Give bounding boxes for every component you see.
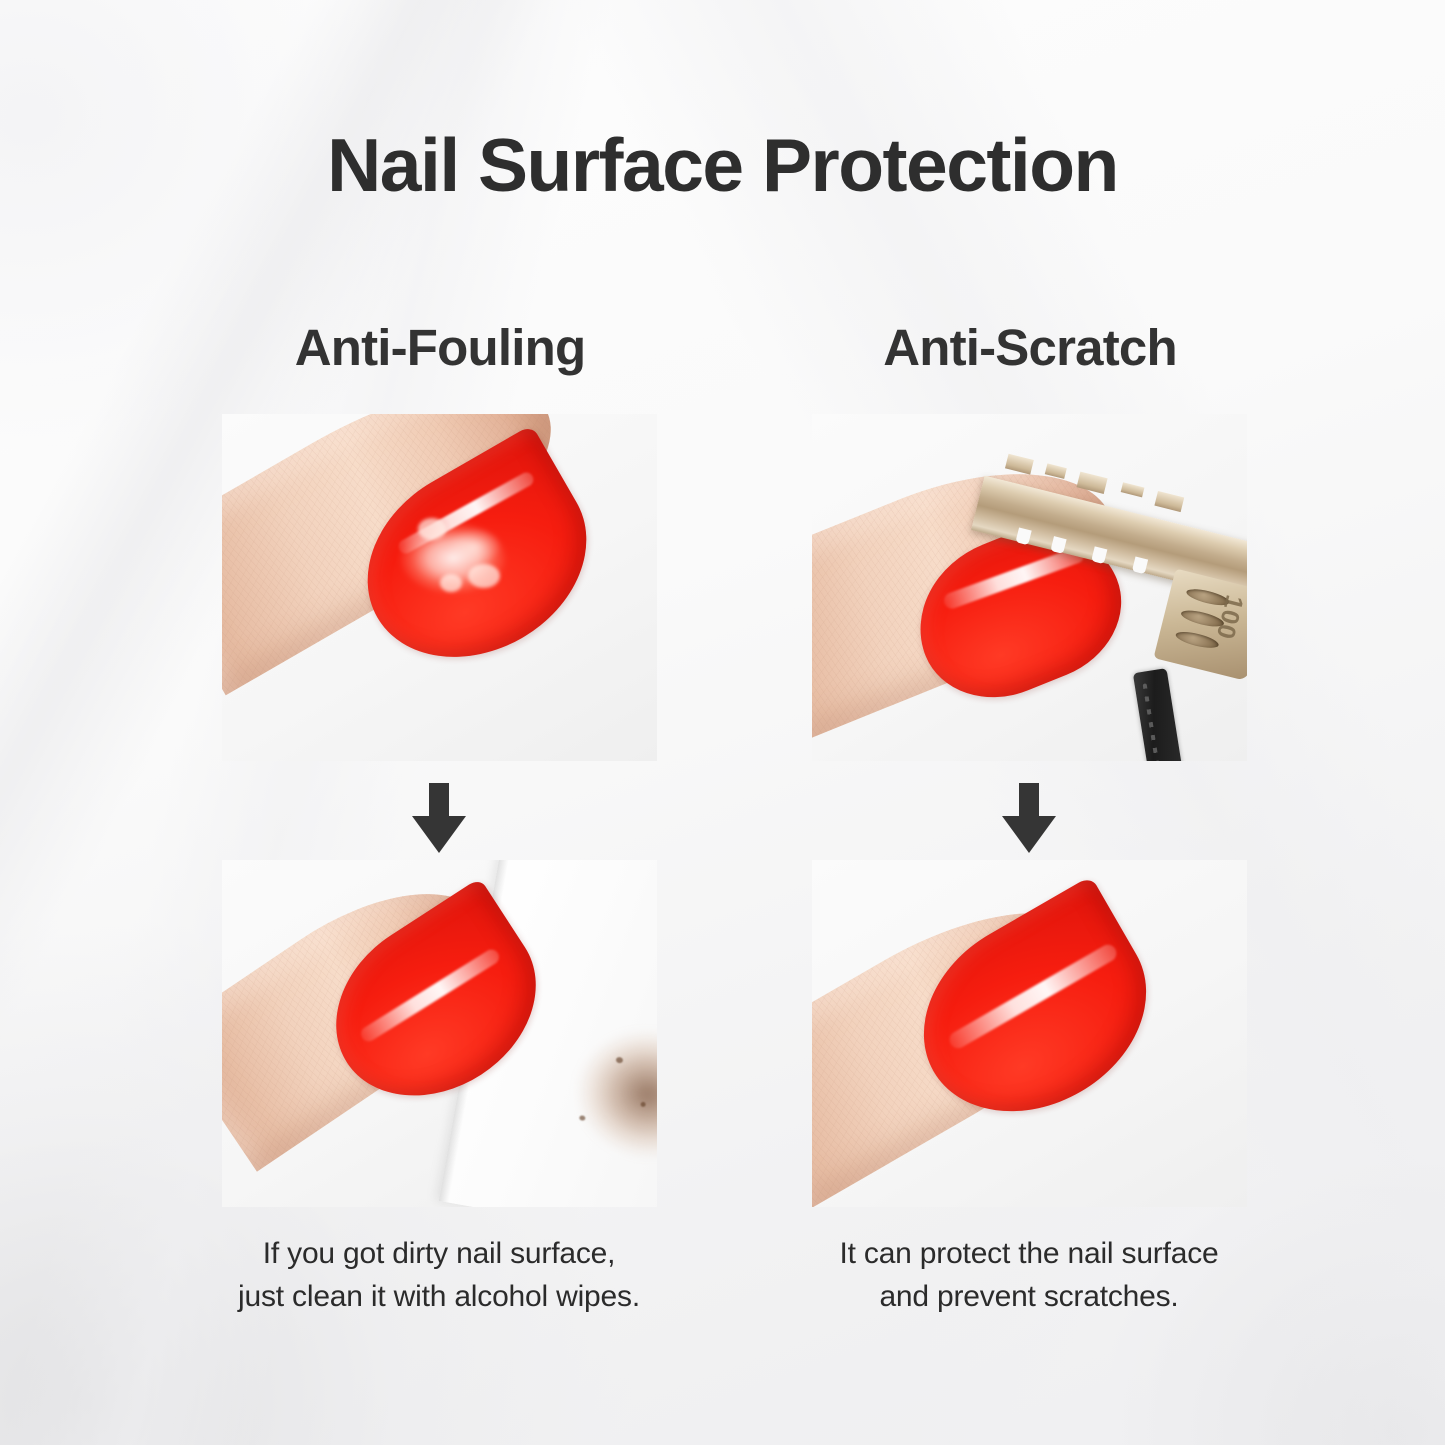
- caption-anti-fouling: If you got dirty nail surface, just clea…: [204, 1233, 674, 1318]
- photo-anti-scratch-after: [812, 860, 1247, 1207]
- caption-line: It can protect the nail surface: [794, 1233, 1264, 1276]
- dirt-smudge: [543, 986, 657, 1196]
- photo-anti-fouling-after: [222, 860, 657, 1207]
- page-title: Nail Surface Protection: [0, 128, 1445, 203]
- caption-anti-scratch: It can protect the nail surface and prev…: [794, 1233, 1264, 1318]
- nail-stain-speck: [418, 518, 446, 540]
- nail-stain-speck: [468, 564, 500, 588]
- caption-line: just clean it with alcohol wipes.: [204, 1276, 674, 1319]
- arrow-shaft: [429, 783, 449, 820]
- photo-anti-scratch-before: 100: [812, 414, 1247, 761]
- arrow-head: [1002, 816, 1056, 853]
- arrow-head: [412, 816, 466, 853]
- key-bow: 100: [1154, 569, 1247, 681]
- column-heading-anti-scratch: Anti-Scratch: [815, 322, 1245, 373]
- arrow-shaft: [1019, 783, 1039, 820]
- infographic-page: Nail Surface Protection Anti-Fouling Ant…: [0, 0, 1445, 1445]
- caption-line: and prevent scratches.: [794, 1276, 1264, 1319]
- photo-anti-fouling-before: [222, 414, 657, 761]
- nail-stain-speck: [440, 574, 462, 592]
- column-heading-anti-fouling: Anti-Fouling: [225, 322, 655, 373]
- down-arrow-icon-anti-fouling: [412, 783, 466, 853]
- caption-line: If you got dirty nail surface,: [204, 1233, 674, 1276]
- down-arrow-icon-anti-scratch: [1002, 783, 1056, 853]
